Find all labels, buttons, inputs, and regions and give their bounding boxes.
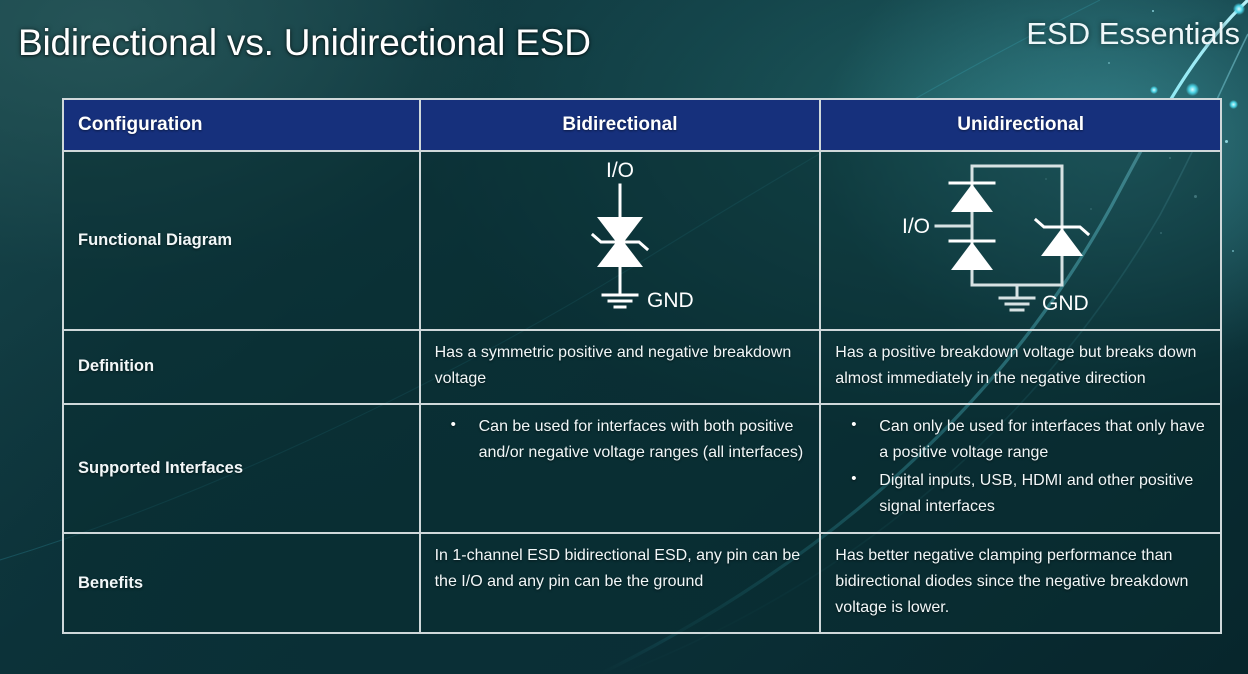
cell-definition-bidirectional: Has a symmetric positive and negative br… [420,330,821,404]
table-row-functional-diagram: Functional Diagram [63,151,1221,330]
header-configuration: Configuration [63,99,420,151]
row-label-supported-interfaces: Supported Interfaces [63,404,420,534]
svg-text:GND: GND [647,289,694,312]
svg-text:I/O: I/O [902,215,930,238]
row-label-definition: Definition [63,330,420,404]
sparkle-glow [1150,86,1158,94]
table-row-definition: Definition Has a symmetric positive and … [63,330,1221,404]
sparkle-dot [1225,140,1228,143]
cell-supported-interfaces-bidirectional: Can be used for interfaces with both pos… [420,404,821,534]
cell-supported-interfaces-unidirectional: Can only be used for interfaces that onl… [820,404,1221,534]
header-bidirectional: Bidirectional [420,99,821,151]
sparkle-glow [1233,3,1245,15]
slide-kicker-label: ESD Essentials [1026,16,1240,52]
page-title: Bidirectional vs. Unidirectional ESD [18,22,591,64]
unidirectional-steering-diode-zener-icon: I/O GND [896,152,1146,324]
cell-unidirectional-diagram: I/O GND [820,151,1221,330]
cell-definition-unidirectional: Has a positive breakdown voltage but bre… [820,330,1221,404]
table-header-row: Configuration Bidirectional Unidirection… [63,99,1221,151]
table-row-benefits: Benefits In 1-channel ESD bidirectional … [63,533,1221,633]
row-label-functional-diagram: Functional Diagram [63,151,420,330]
list-item: Can only be used for interfaces that onl… [861,414,1206,466]
sparkle-dot [1152,10,1154,12]
sparkle-glow [1186,83,1199,96]
sparkle-glow [1229,100,1238,109]
bidirectional-tvs-diode-icon: I/O GND [515,155,725,321]
cell-benefits-unidirectional: Has better negative clamping performance… [820,533,1221,633]
svg-text:I/O: I/O [606,159,634,182]
row-label-benefits: Benefits [63,533,420,633]
bullet-list-unidirectional: Can only be used for interfaces that onl… [835,414,1206,520]
cell-bidirectional-diagram: I/O GND [420,151,821,330]
cell-benefits-bidirectional: In 1-channel ESD bidirectional ESD, any … [420,533,821,633]
list-item: Digital inputs, USB, HDMI and other posi… [861,468,1206,520]
comparison-table: Configuration Bidirectional Unidirection… [62,98,1222,634]
list-item: Can be used for interfaces with both pos… [461,414,806,466]
sparkle-dot [1108,62,1110,64]
bullet-list-bidirectional: Can be used for interfaces with both pos… [435,414,806,466]
table-row-supported-interfaces: Supported Interfaces Can be used for int… [63,404,1221,534]
header-unidirectional: Unidirectional [820,99,1221,151]
sparkle-dot [1232,250,1234,252]
slide-canvas: Bidirectional vs. Unidirectional ESD ESD… [0,0,1248,674]
svg-text:GND: GND [1042,292,1089,315]
